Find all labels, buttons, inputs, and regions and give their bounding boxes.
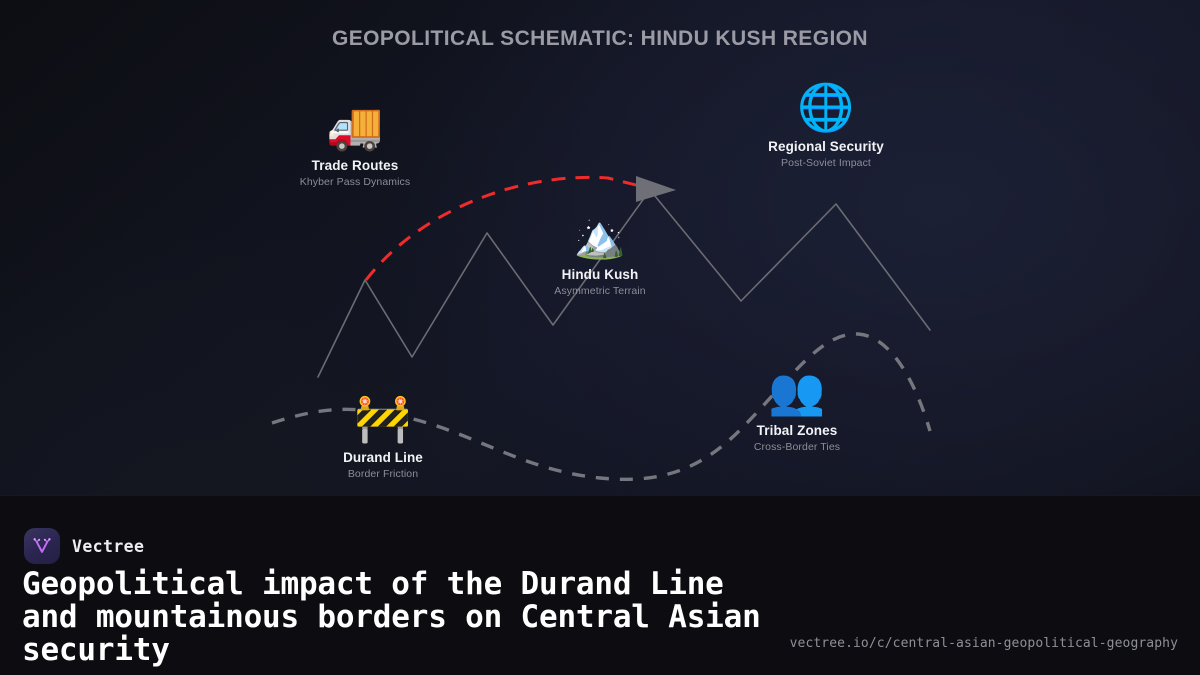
node-label: Trade Routes	[260, 159, 450, 173]
source-url: vectree.io/c/central-asian-geopolitical-…	[790, 636, 1178, 651]
node-label: Regional Security	[731, 140, 921, 154]
node-tribal-zones[interactable]: 👥 Tribal Zones Cross-Border Ties	[702, 368, 892, 452]
construction-barrier-icon: 🚧	[288, 395, 478, 447]
vectree-logo-icon	[24, 528, 60, 564]
globe-meridians-icon: 🌐	[731, 84, 921, 136]
two-people-icon: 👥	[702, 368, 892, 420]
snow-mountain-icon: 🏔️	[505, 216, 695, 264]
node-durand-line[interactable]: 🚧 Durand Line Border Friction	[288, 395, 478, 479]
node-label: Hindu Kush	[505, 268, 695, 282]
node-hindu-kush[interactable]: 🏔️ Hindu Kush Asymmetric Terrain	[505, 216, 695, 296]
node-label: Tribal Zones	[702, 424, 892, 438]
node-trade-routes[interactable]: 🚚 Trade Routes Khyber Pass Dynamics	[260, 103, 450, 187]
headline: Geopolitical impact of the Durand Line a…	[22, 568, 782, 667]
node-sublabel: Khyber Pass Dynamics	[260, 177, 450, 188]
delivery-truck-icon: 🚚	[260, 103, 450, 155]
trade-route-arrowhead	[636, 176, 676, 202]
node-sublabel: Asymmetric Terrain	[505, 286, 695, 297]
node-regional-security[interactable]: 🌐 Regional Security Post-Soviet Impact	[731, 84, 921, 168]
brand-row[interactable]: Vectree	[24, 528, 144, 564]
footer: Vectree Geopolitical impact of the Duran…	[0, 495, 1200, 675]
node-label: Durand Line	[288, 451, 478, 465]
node-sublabel: Post-Soviet Impact	[731, 158, 921, 169]
schematic-canvas: GEOPOLITICAL SCHEMATIC: HINDU KUSH REGIO…	[0, 0, 1200, 675]
node-sublabel: Border Friction	[288, 469, 478, 480]
node-sublabel: Cross-Border Ties	[702, 442, 892, 453]
schematic-title: GEOPOLITICAL SCHEMATIC: HINDU KUSH REGIO…	[0, 27, 1200, 51]
brand-name: Vectree	[72, 537, 144, 556]
